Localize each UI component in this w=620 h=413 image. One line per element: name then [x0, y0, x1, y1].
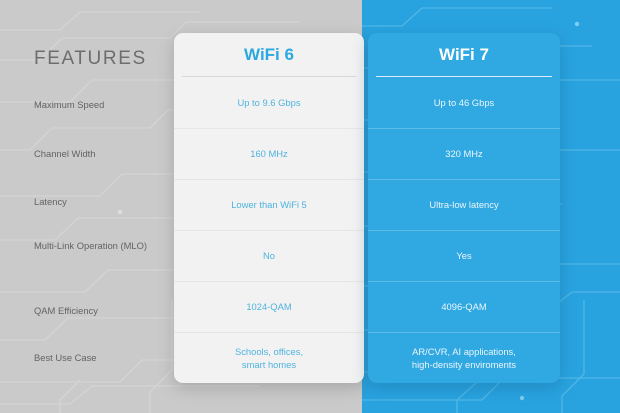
cell-wifi6-qam-efficiency: 1024-QAM	[174, 281, 364, 332]
cell-wifi7-channel-width: 320 MHz	[368, 128, 560, 179]
feature-label-maximum-speed: Maximum Speed	[34, 98, 169, 111]
cell-wifi7-latency: Ultra-low latency	[368, 179, 560, 230]
cell-wifi6-best-use-case: Schools, offices,smart homes	[174, 332, 364, 383]
cell-wifi7-best-use-case: AR/CVR, AI applications,high-density env…	[368, 332, 560, 383]
cell-wifi6-maximum-speed: Up to 9.6 Gbps	[174, 77, 364, 128]
feature-label-channel-width: Channel Width	[34, 147, 169, 160]
cell-wifi7-qam-efficiency: 4096-QAM	[368, 281, 560, 332]
comparison-card-wifi6[interactable]: WiFi 6 Up to 9.6 Gbps 160 MHz Lower than…	[174, 33, 364, 383]
cell-wifi6-latency: Lower than WiFi 5	[174, 179, 364, 230]
cell-wifi6-multi-link-operation: No	[174, 230, 364, 281]
feature-label-multi-link-operation: Multi-Link Operation (MLO)	[34, 239, 169, 252]
card-title-wifi7: WiFi 7	[368, 33, 560, 77]
comparison-card-wifi7[interactable]: WiFi 7 Up to 46 Gbps 320 MHz Ultra-low l…	[368, 33, 560, 383]
infographic-root: FEATURES Maximum Speed Channel Width Lat…	[0, 0, 620, 413]
features-header: FEATURES	[34, 48, 147, 70]
feature-label-latency: Latency	[34, 195, 169, 208]
cell-wifi6-channel-width: 160 MHz	[174, 128, 364, 179]
cell-wifi7-multi-link-operation: Yes	[368, 230, 560, 281]
card-title-wifi6: WiFi 6	[174, 33, 364, 77]
feature-label-qam-efficiency: QAM Efficiency	[34, 304, 169, 317]
cell-wifi7-maximum-speed: Up to 46 Gbps	[368, 77, 560, 128]
feature-label-best-use-case: Best Use Case	[34, 351, 169, 364]
